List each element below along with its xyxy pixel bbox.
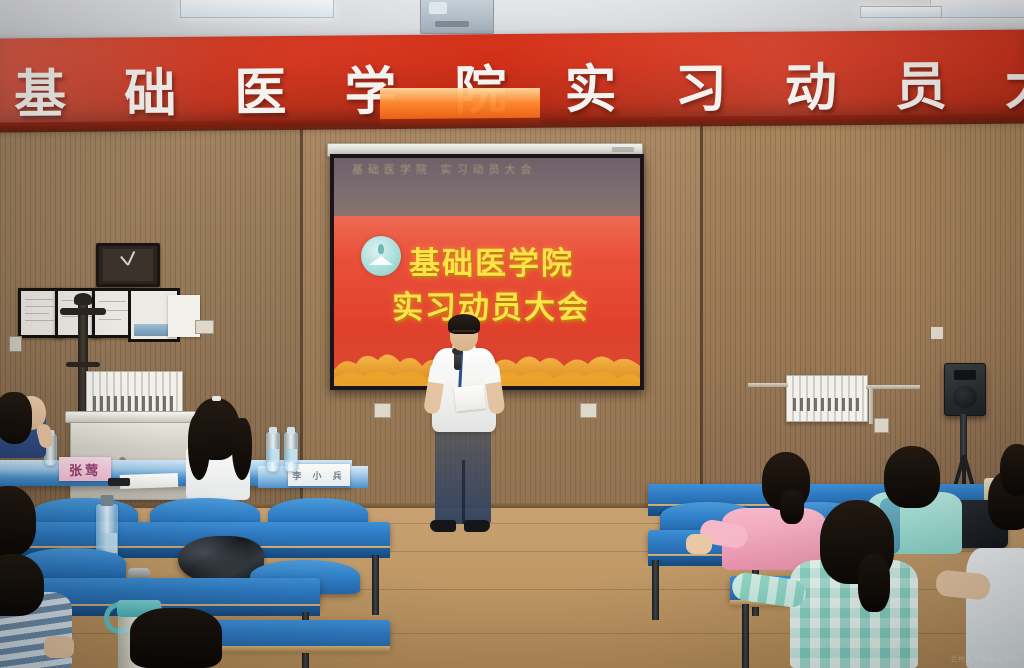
glasses-icon: [452, 330, 476, 337]
person-hand: [686, 534, 712, 554]
projector-lens-icon: [429, 2, 447, 14]
radiator-slots: [93, 396, 176, 411]
speaker-horn: [954, 370, 976, 380]
wall-outlet: [580, 403, 597, 418]
person-hair: [884, 446, 940, 508]
ponytail: [858, 554, 890, 612]
presenter-shoe: [464, 520, 490, 532]
water-bottle: [284, 432, 298, 472]
person-hair: [0, 392, 32, 444]
coat-rack-top: [74, 293, 92, 305]
coat-rack-arm: [66, 362, 100, 367]
college-emblem-icon: [361, 236, 401, 276]
photo-scene: 基 础 医 学 院 实 习 动 员 大 会 基础医学院 实习动员大会 基础医学院…: [0, 0, 1024, 668]
podium-top: [65, 411, 207, 423]
slide-title-line1: 基础医学院: [409, 238, 574, 283]
radiator-pipe: [866, 385, 920, 389]
water-bottle: [266, 432, 280, 472]
person-hair: [130, 608, 222, 668]
desk-leg: [742, 604, 749, 668]
slide-title-line2: 实习动员大会: [392, 282, 590, 327]
radiator-slots: [793, 398, 861, 412]
person-hair-strand: [232, 418, 252, 480]
person-hair-strand: [188, 414, 210, 480]
bottle-label: [285, 449, 297, 462]
ponytail: [780, 490, 804, 524]
presenter-notes: [454, 384, 486, 411]
wall-marking: [931, 327, 943, 339]
wall-seam: [700, 120, 703, 520]
wall-outlet: [874, 418, 889, 433]
person-hair: [1000, 444, 1024, 496]
name-placard-pink: 张莺: [59, 457, 111, 481]
screen-washed-band: 基础医学院 实习动员大会: [334, 158, 640, 216]
ceiling-light: [180, 0, 334, 18]
pen-on-table: [108, 478, 130, 486]
radiator-pipe: [748, 383, 788, 387]
ceiling-light: [860, 6, 942, 18]
person-hand: [44, 636, 74, 658]
bottle-cap: [101, 495, 114, 506]
ceiling-light: [930, 0, 1024, 18]
photo-watermark: 兰州大学基础医学院: [951, 654, 1019, 664]
speaker-woofer: [953, 386, 977, 408]
student-desk: [200, 620, 390, 648]
clock-minute-hand: [127, 251, 135, 265]
screen-faint-text: 基础医学院 实习动员大会: [352, 161, 644, 177]
presenter-shoe: [430, 520, 456, 532]
hair-clip: [212, 396, 221, 401]
radiator-pipe: [869, 388, 873, 424]
wall-clock: [96, 243, 160, 287]
desk-leg: [372, 555, 379, 615]
screen-housing-tab: [612, 147, 634, 152]
wall-outlet: [195, 320, 214, 334]
bottle-cap: [287, 427, 295, 434]
wall-outlet: [374, 403, 391, 418]
bottle-label: [267, 449, 279, 462]
keys-on-desk: [128, 568, 150, 578]
trouser-seam: [462, 460, 465, 524]
coat-rack-arm: [60, 308, 106, 315]
radiator-right: [786, 375, 868, 422]
ceiling-projector: [420, 0, 494, 34]
wall-switch: [9, 336, 22, 352]
person-torso: [966, 548, 1024, 668]
pa-speaker: [944, 363, 986, 416]
desk-leg: [652, 560, 659, 620]
clock-face: [103, 249, 153, 281]
bottle-cap: [269, 427, 277, 434]
right-wall: [700, 120, 1024, 520]
desk-edge: [200, 646, 390, 653]
